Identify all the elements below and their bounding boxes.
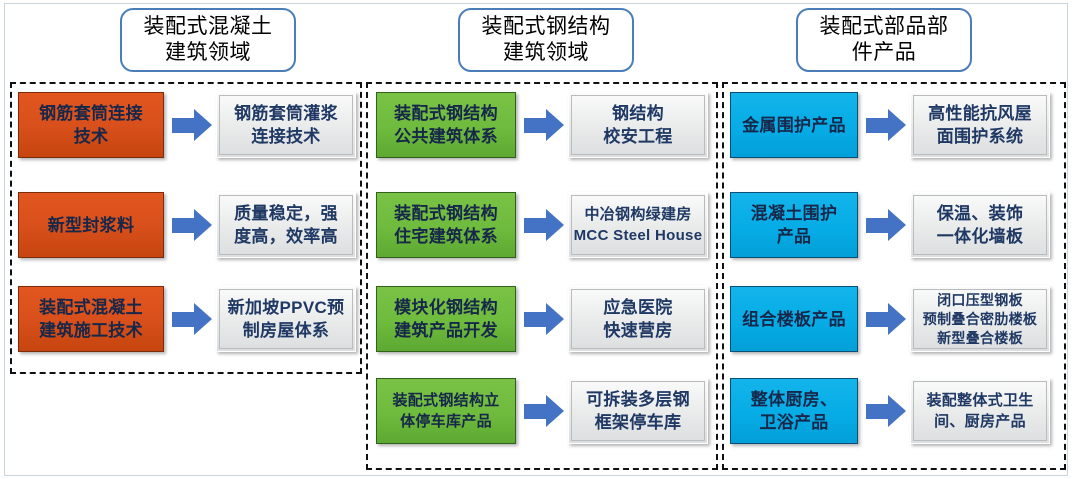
flow-row: 钢筋套筒连接 技术 钢筋套筒灌浆 连接技术 xyxy=(18,92,356,158)
right-arrow-icon xyxy=(866,108,910,142)
right-arrow-icon xyxy=(172,108,216,142)
diagram-canvas: 装配式混凝土 建筑领域 装配式钢结构 建筑领域 装配式部品部 件产品 钢筋套筒连… xyxy=(0,0,1074,479)
column-title-prefab-components: 装配式部品部 件产品 xyxy=(796,8,972,72)
right-arrow-icon xyxy=(172,302,216,336)
flow-row: 组合楼板产品 闭口压型钢板 预制叠合密肋楼板 新型叠合楼板 xyxy=(730,286,1050,352)
right-arrow-icon xyxy=(524,302,568,336)
right-arrow-icon xyxy=(172,208,216,242)
column-title-prefab-concrete: 装配式混凝土 建筑领域 xyxy=(120,8,296,72)
target-node[interactable]: 闭口压型钢板 预制叠合密肋楼板 新型叠合楼板 xyxy=(910,286,1050,352)
source-node[interactable]: 整体厨房、 卫浴产品 xyxy=(730,378,858,444)
target-node[interactable]: 质量稳定，强 度高，效率高 xyxy=(216,192,356,258)
right-arrow-icon xyxy=(524,394,568,428)
column-title-prefab-steel-structure: 装配式钢结构 建筑领域 xyxy=(458,8,634,72)
right-arrow-icon xyxy=(524,108,568,142)
right-arrow-icon xyxy=(524,208,568,242)
right-arrow-icon xyxy=(866,394,910,428)
target-node[interactable]: 高性能抗风屋 面围护系统 xyxy=(910,92,1050,158)
target-node[interactable]: 可拆装多层钢 框架停车库 xyxy=(568,378,708,444)
target-node[interactable]: 钢结构 校安工程 xyxy=(568,92,708,158)
source-node[interactable]: 组合楼板产品 xyxy=(730,286,858,352)
flow-row: 模块化钢结构 建筑产品开发 应急医院 快速营房 xyxy=(376,286,708,352)
source-node[interactable]: 装配式混凝土 建筑施工技术 xyxy=(18,286,164,352)
source-node[interactable]: 金属围护产品 xyxy=(730,92,858,158)
right-arrow-icon xyxy=(866,208,910,242)
flow-row: 新型封浆料 质量稳定，强 度高，效率高 xyxy=(18,192,356,258)
source-node[interactable]: 装配式钢结构立 体停车库产品 xyxy=(376,378,516,444)
flow-row: 金属围护产品 高性能抗风屋 面围护系统 xyxy=(730,92,1050,158)
target-node[interactable]: 应急医院 快速营房 xyxy=(568,286,708,352)
target-node[interactable]: 新加坡PPVC预 制房屋体系 xyxy=(216,286,356,352)
right-arrow-icon xyxy=(866,302,910,336)
target-node[interactable]: 钢筋套筒灌浆 连接技术 xyxy=(216,92,356,158)
target-node[interactable]: 保温、装饰 一体化墙板 xyxy=(910,192,1050,258)
target-node[interactable]: 装配整体式卫生 间、厨房产品 xyxy=(910,378,1050,444)
target-node[interactable]: 中冶钢构绿建房 MCC Steel House xyxy=(568,192,708,258)
source-node[interactable]: 混凝土围护 产品 xyxy=(730,192,858,258)
flow-row: 整体厨房、 卫浴产品 装配整体式卫生 间、厨房产品 xyxy=(730,378,1050,444)
flow-row: 装配式钢结构 公共建筑体系 钢结构 校安工程 xyxy=(376,92,708,158)
source-node[interactable]: 模块化钢结构 建筑产品开发 xyxy=(376,286,516,352)
source-node[interactable]: 钢筋套筒连接 技术 xyxy=(18,92,164,158)
source-node[interactable]: 装配式钢结构 公共建筑体系 xyxy=(376,92,516,158)
flow-row: 混凝土围护 产品 保温、装饰 一体化墙板 xyxy=(730,192,1050,258)
source-node[interactable]: 新型封浆料 xyxy=(18,192,164,258)
flow-row: 装配式钢结构立 体停车库产品 可拆装多层钢 框架停车库 xyxy=(376,378,708,444)
flow-row: 装配式钢结构 住宅建筑体系 中冶钢构绿建房 MCC Steel House xyxy=(376,192,708,258)
flow-row: 装配式混凝土 建筑施工技术 新加坡PPVC预 制房屋体系 xyxy=(18,286,356,352)
source-node[interactable]: 装配式钢结构 住宅建筑体系 xyxy=(376,192,516,258)
